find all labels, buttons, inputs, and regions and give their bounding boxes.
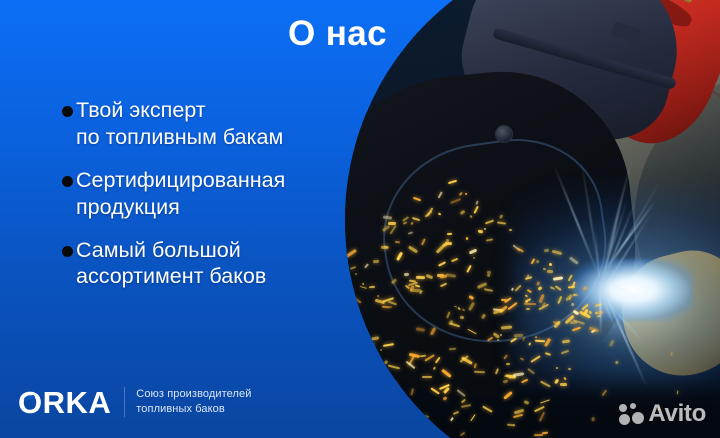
list-item-label: Самый большой ассортимент баков <box>76 237 266 291</box>
avito-wordmark: Avito <box>648 402 706 426</box>
avito-watermark: Avito <box>619 402 706 426</box>
welder-photo-image <box>345 0 720 438</box>
list-item: Самый большой ассортимент баков <box>62 237 285 291</box>
brand-logo: ORKA Союз производителей топливных баков <box>18 387 251 418</box>
list-item: Твой эксперт по топливным бакам <box>62 97 285 151</box>
page-title: О нас <box>288 16 387 51</box>
bullet-dot-icon <box>62 106 73 117</box>
logo-divider <box>124 387 125 417</box>
logo-wordmark: ORKA <box>18 387 111 418</box>
feature-list: Твой эксперт по топливным бакам Сертифиц… <box>62 97 285 306</box>
bullet-dot-icon <box>62 246 73 257</box>
list-item-label: Твой эксперт по топливным бакам <box>76 97 283 151</box>
logo-tagline: Союз производителей топливных баков <box>136 387 251 418</box>
welder-photo <box>345 0 720 438</box>
about-us-banner: О нас Твой эксперт по топливным бакам Се… <box>0 0 720 438</box>
list-item-label: Сертифицированная продукция <box>76 167 285 221</box>
avito-dots-icon <box>619 403 644 425</box>
bullet-dot-icon <box>62 176 73 187</box>
list-item: Сертифицированная продукция <box>62 167 285 221</box>
